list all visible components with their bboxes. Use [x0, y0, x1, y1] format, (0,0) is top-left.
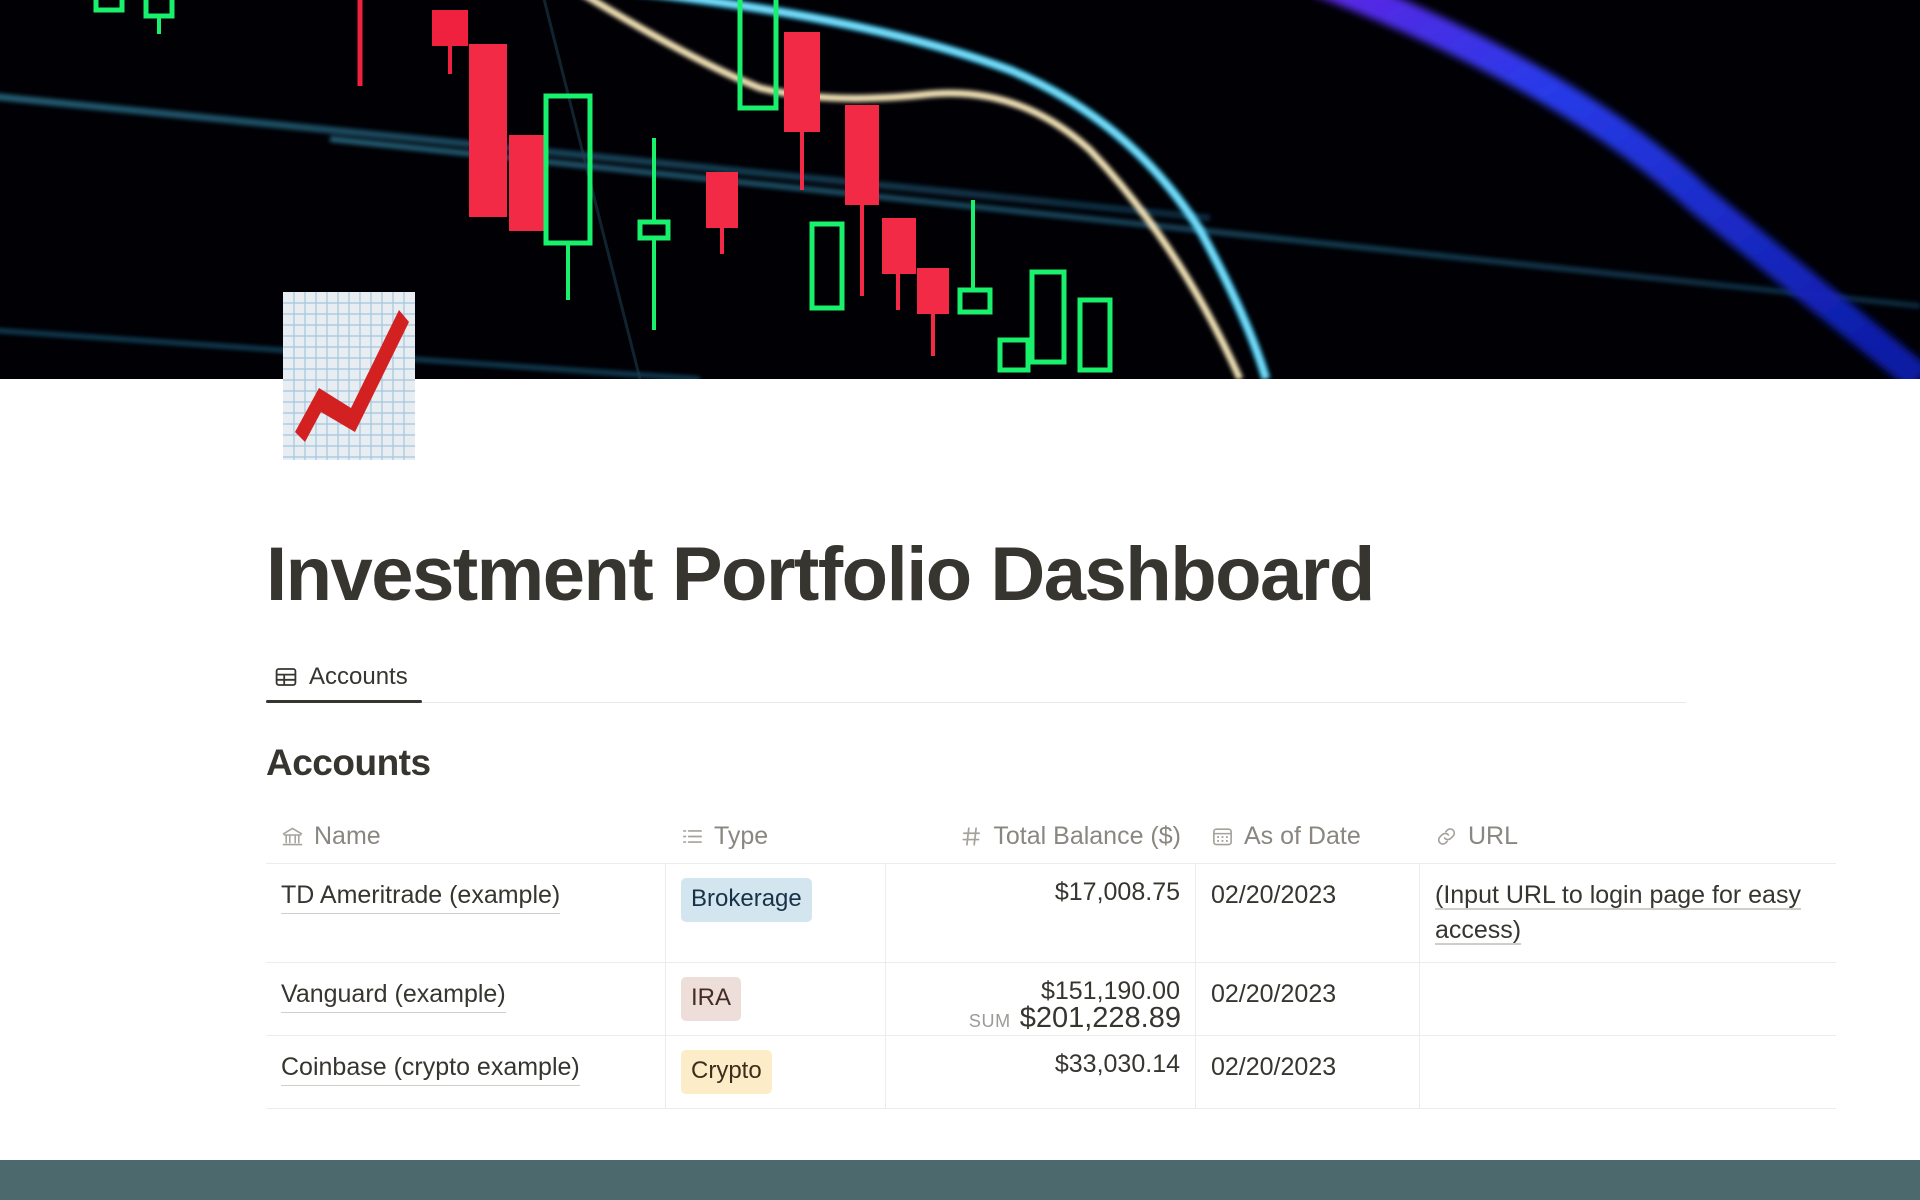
- footer-spacer-type: [666, 1002, 886, 1035]
- cell-name[interactable]: Coinbase (crypto example): [266, 1036, 666, 1108]
- table-header-row: Name Type: [266, 816, 1836, 864]
- window-bottom-bar: [0, 1160, 1920, 1200]
- bank-icon: [281, 825, 304, 848]
- column-header-as-of-date-label: As of Date: [1244, 822, 1361, 851]
- row-title-link[interactable]: Coinbase (crypto example): [281, 1050, 580, 1086]
- database-title: Accounts: [266, 742, 431, 784]
- cell-url[interactable]: [1420, 1036, 1836, 1108]
- column-header-name[interactable]: Name: [266, 816, 666, 863]
- database-tab-bar: Accounts: [266, 651, 1686, 703]
- tab-accounts-label: Accounts: [309, 663, 408, 691]
- list-icon: [681, 825, 704, 848]
- footer-spacer-name: [266, 1002, 666, 1035]
- cell-total-balance[interactable]: $17,008.75: [886, 864, 1196, 962]
- column-header-as-of-date[interactable]: As of Date: [1196, 816, 1420, 863]
- column-header-url-label: URL: [1468, 822, 1518, 851]
- column-header-name-label: Name: [314, 822, 381, 851]
- type-tag: Brokerage: [681, 878, 812, 922]
- notion-page: Investment Portfolio Dashboard Accounts …: [0, 0, 1920, 1200]
- sum-value: $201,228.89: [1020, 1002, 1181, 1035]
- balance-value: $33,030.14: [1055, 1050, 1180, 1079]
- row-title-link[interactable]: TD Ameritrade (example): [281, 878, 560, 914]
- footer-total-balance[interactable]: SUM $201,228.89: [886, 1002, 1196, 1035]
- date-value: 02/20/2023: [1211, 1050, 1336, 1085]
- calendar-icon: [1211, 825, 1234, 848]
- cell-name[interactable]: TD Ameritrade (example): [266, 864, 666, 962]
- table-row[interactable]: Coinbase (crypto example) Crypto $33,030…: [266, 1036, 1836, 1109]
- table-icon: [274, 665, 298, 689]
- page-icon-chart-increasing[interactable]: [283, 292, 415, 460]
- cell-url[interactable]: (Input URL to login page for easy access…: [1420, 864, 1836, 962]
- table-row[interactable]: TD Ameritrade (example) Brokerage $17,00…: [266, 864, 1836, 963]
- number-icon: [960, 825, 983, 848]
- tab-accounts[interactable]: Accounts: [266, 651, 422, 702]
- chart-increasing-icon: [283, 292, 415, 460]
- cell-type[interactable]: Crypto: [666, 1036, 886, 1108]
- page-title: Investment Portfolio Dashboard: [266, 537, 1374, 613]
- cell-total-balance[interactable]: $33,030.14: [886, 1036, 1196, 1108]
- cell-type[interactable]: Brokerage: [666, 864, 886, 962]
- column-header-type[interactable]: Type: [666, 816, 886, 863]
- date-value: 02/20/2023: [1211, 878, 1336, 913]
- link-icon: [1435, 825, 1458, 848]
- table-footer-row: SUM $201,228.89: [266, 1002, 1836, 1035]
- cell-as-of-date[interactable]: 02/20/2023: [1196, 1036, 1420, 1108]
- accounts-table: Name Type: [266, 816, 1836, 1109]
- cell-as-of-date[interactable]: 02/20/2023: [1196, 864, 1420, 962]
- column-header-url[interactable]: URL: [1420, 816, 1836, 863]
- tab-active-underline: [266, 700, 422, 703]
- url-value[interactable]: (Input URL to login page for easy access…: [1435, 878, 1821, 948]
- sum-label: SUM: [969, 1011, 1011, 1032]
- column-header-type-label: Type: [714, 822, 768, 851]
- balance-value: $17,008.75: [1055, 878, 1180, 907]
- column-header-total-balance-label: Total Balance ($): [993, 822, 1181, 851]
- column-header-total-balance[interactable]: Total Balance ($): [886, 816, 1196, 863]
- type-tag: Crypto: [681, 1050, 772, 1094]
